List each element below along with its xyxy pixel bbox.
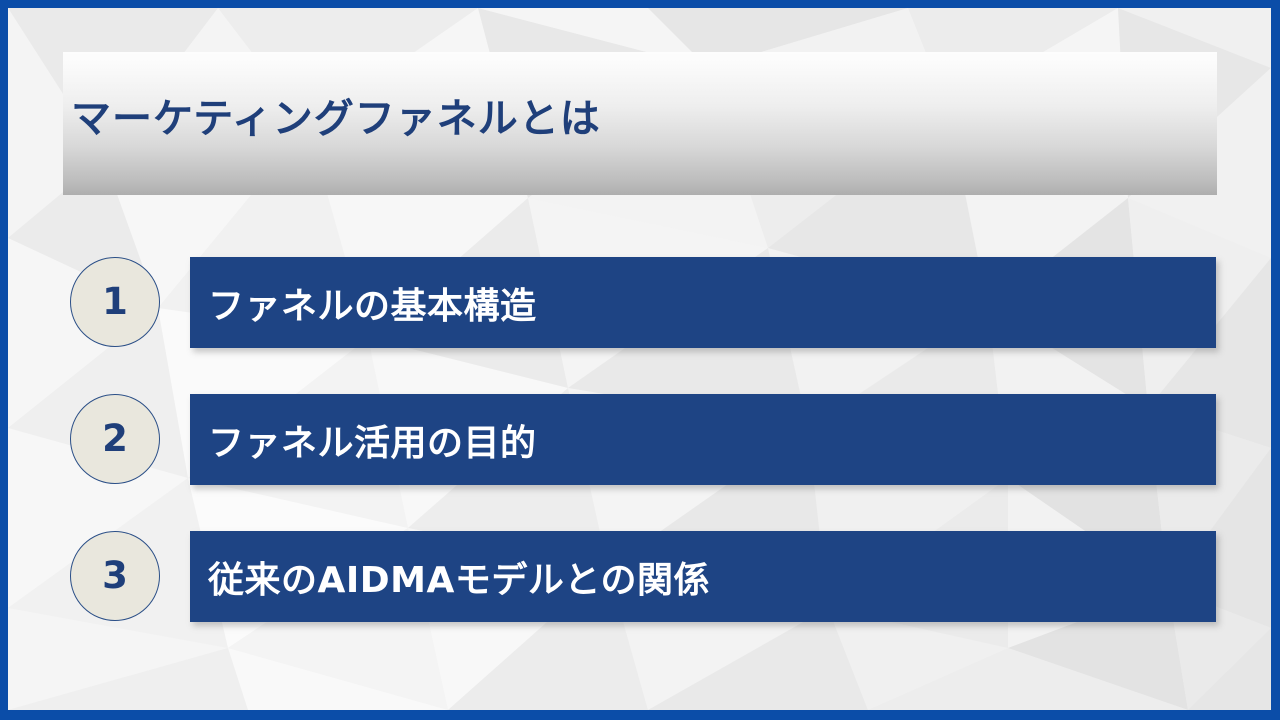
- slide-canvas: マーケティングファネルとは 1 ファネルの基本構造 2 ファネル活用の目的 3 …: [8, 8, 1271, 710]
- agenda-number-2: 2: [102, 420, 128, 457]
- agenda-item-2[interactable]: 2 ファネル活用の目的: [8, 394, 1271, 486]
- agenda-item-3[interactable]: 3 従来のAIDMAモデルとの関係: [8, 531, 1271, 623]
- agenda-number-badge-2: 2: [70, 394, 160, 484]
- agenda-label-3: 従来のAIDMAモデルとの関係: [208, 551, 710, 603]
- agenda-number-badge-1: 1: [70, 257, 160, 347]
- agenda-label-2: ファネル活用の目的: [208, 414, 537, 466]
- agenda-bar-2[interactable]: ファネル活用の目的: [190, 394, 1216, 485]
- page-title: マーケティングファネルとは: [71, 86, 601, 144]
- agenda-item-1[interactable]: 1 ファネルの基本構造: [8, 257, 1271, 349]
- agenda-number-1: 1: [102, 283, 128, 320]
- slide-frame: マーケティングファネルとは 1 ファネルの基本構造 2 ファネル活用の目的 3 …: [0, 0, 1280, 720]
- agenda-number-badge-3: 3: [70, 531, 160, 621]
- agenda-bar-1[interactable]: ファネルの基本構造: [190, 257, 1216, 348]
- agenda-number-3: 3: [102, 557, 128, 594]
- agenda-bar-3[interactable]: 従来のAIDMAモデルとの関係: [190, 531, 1216, 622]
- agenda-label-1: ファネルの基本構造: [208, 277, 537, 329]
